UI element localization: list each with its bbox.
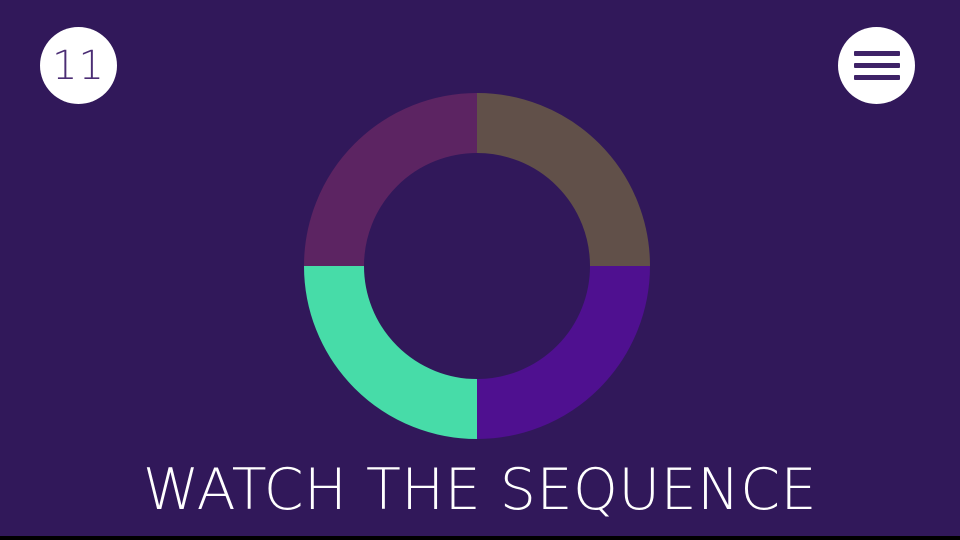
instruction-text: WATCH THE SEQUENCE	[0, 458, 960, 522]
level-number: 11	[52, 46, 105, 86]
hamburger-menu-icon	[854, 51, 900, 80]
level-badge[interactable]: 11	[40, 27, 117, 104]
game-stage: 11	[0, 0, 960, 536]
donut-slice-top-left[interactable]	[334, 123, 477, 266]
donut-slice-bottom-right[interactable]	[477, 266, 620, 409]
donut-slice-top-right[interactable]	[477, 123, 620, 266]
hamburger-bar-1	[854, 51, 900, 56]
game-screen: 11	[0, 0, 960, 540]
donut-slice-bottom-left[interactable]	[334, 266, 477, 409]
bottom-letterbox-bar	[0, 536, 960, 540]
sequence-donut	[304, 93, 650, 439]
hamburger-bar-2	[854, 63, 900, 68]
hamburger-bar-3	[854, 75, 900, 80]
menu-button[interactable]	[838, 27, 915, 104]
